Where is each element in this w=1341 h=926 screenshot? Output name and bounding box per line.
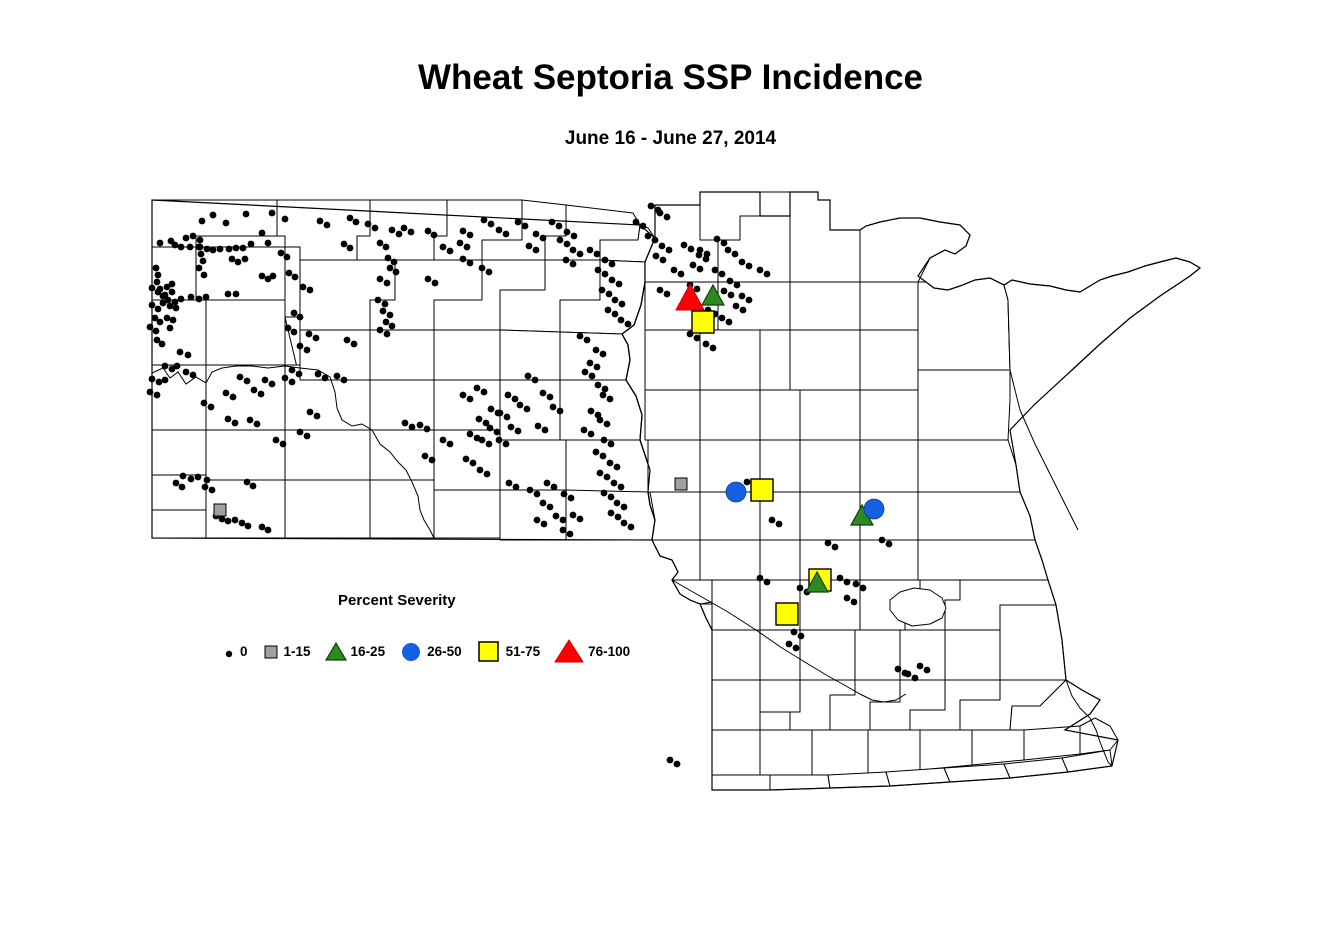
map-marker-zero — [611, 480, 618, 487]
map-marker-zero — [721, 240, 728, 247]
map-marker-zero — [385, 255, 392, 262]
map-marker-zero — [149, 285, 156, 292]
map-marker-zero — [551, 484, 558, 491]
map-marker-zero — [291, 329, 298, 336]
map-marker-zero — [262, 377, 269, 384]
map-marker-zero — [197, 237, 204, 244]
map-marker-zero — [648, 203, 655, 210]
map-marker-zero — [740, 307, 747, 314]
map-marker-zero — [508, 424, 515, 431]
map-marker-zero — [432, 280, 439, 287]
map-marker-zero — [217, 246, 224, 253]
map-marker-zero — [540, 390, 547, 397]
map-marker-51-75 — [692, 311, 714, 333]
map-marker-zero — [167, 325, 174, 332]
map-marker-zero — [149, 376, 156, 383]
map-marker-zero — [229, 256, 236, 263]
map-marker-26-50 — [864, 499, 884, 519]
map-marker-zero — [467, 260, 474, 267]
map-marker-zero — [167, 303, 174, 310]
map-marker-zero — [664, 291, 671, 298]
map-marker-zero — [594, 251, 601, 258]
map-marker-zero — [653, 253, 660, 260]
map-marker-zero — [533, 231, 540, 238]
map-marker-zero — [210, 212, 217, 219]
map-marker-zero — [608, 494, 615, 501]
map-marker-1-15 — [214, 504, 226, 516]
map-marker-zero — [209, 487, 216, 494]
map-marker-zero — [408, 229, 415, 236]
map-marker-zero — [851, 599, 858, 606]
map-marker-zero — [587, 247, 594, 254]
map-marker-zero — [652, 237, 659, 244]
map-marker-zero — [488, 221, 495, 228]
map-marker-zero — [557, 408, 564, 415]
map-marker-zero — [588, 431, 595, 438]
map-marker-zero — [595, 382, 602, 389]
legend-label: 26-50 — [427, 644, 462, 659]
map-marker-zero — [247, 417, 254, 424]
map-marker-zero — [697, 247, 704, 254]
map-marker-51-75 — [776, 603, 798, 625]
map-marker-zero — [612, 297, 619, 304]
map-marker-zero — [602, 257, 609, 264]
map-marker-zero — [297, 429, 304, 436]
map-marker-zero — [532, 377, 539, 384]
map-marker-zero — [577, 516, 584, 523]
legend-item-76-100[interactable]: 76-100 — [554, 637, 630, 665]
map-marker-zero — [177, 349, 184, 356]
map-marker-zero — [496, 227, 503, 234]
map-marker-zero — [484, 471, 491, 478]
map-marker-zero — [269, 381, 276, 388]
map-marker-zero — [296, 371, 303, 378]
map-marker-zero — [155, 306, 162, 313]
map-marker-zero — [314, 413, 321, 420]
map-marker-zero — [564, 229, 571, 236]
map-marker-zero — [660, 257, 667, 264]
map-marker-zero — [734, 282, 741, 289]
map-marker-zero — [273, 437, 280, 444]
map-marker-zero — [225, 291, 232, 298]
map-marker-zero — [786, 641, 793, 648]
map-marker-zero — [593, 347, 600, 354]
map-marker-zero — [307, 409, 314, 416]
map-marker-zero — [671, 267, 678, 274]
map-marker-zero — [391, 259, 398, 266]
map-marker-zero — [659, 243, 666, 250]
map-marker-zero — [606, 291, 613, 298]
map-marker-zero — [440, 437, 447, 444]
map-marker-zero — [291, 310, 298, 317]
map-marker-zero — [640, 223, 647, 230]
map-marker-zero — [232, 517, 239, 524]
map-marker-zero — [553, 513, 560, 520]
map-marker-zero — [460, 228, 467, 235]
map-marker-51-75 — [751, 479, 773, 501]
map-marker-zero — [550, 404, 557, 411]
map-marker-zero — [746, 263, 753, 270]
map-marker-zero — [341, 377, 348, 384]
map-marker-zero — [190, 372, 197, 379]
map-marker-zero — [384, 331, 391, 338]
map-marker-zero — [540, 235, 547, 242]
map-marker-zero — [547, 394, 554, 401]
map-marker-zero — [582, 369, 589, 376]
map-marker-zero — [619, 301, 626, 308]
map-marker-zero — [534, 517, 541, 524]
map-marker-zero — [633, 219, 640, 226]
map-marker-zero — [601, 490, 608, 497]
map-marker-zero — [769, 517, 776, 524]
map-marker-zero — [409, 424, 416, 431]
map-marker-zero — [170, 317, 177, 324]
map-marker-zero — [159, 341, 166, 348]
map-marker-zero — [223, 220, 230, 227]
map-marker-zero — [243, 211, 250, 218]
map-marker-zero — [556, 223, 563, 230]
map-marker-zero — [402, 420, 409, 427]
map-marker-zero — [383, 319, 390, 326]
legend-item-0[interactable]: 0 — [222, 641, 248, 661]
legend-label: 76-100 — [588, 644, 630, 659]
map-marker-zero — [609, 277, 616, 284]
map-marker-zero — [204, 246, 211, 253]
map-marker-zero — [564, 241, 571, 248]
map-marker-zero — [179, 484, 186, 491]
legend-label: 16-25 — [351, 644, 386, 659]
map-marker-zero — [506, 480, 513, 487]
legend-symbol-dot-icon — [222, 641, 236, 661]
map-marker-zero — [162, 363, 169, 370]
map-marker-zero — [157, 240, 164, 247]
map-marker-zero — [196, 296, 203, 303]
map-marker-zero — [703, 341, 710, 348]
map-marker-zero — [616, 281, 623, 288]
map-marker-zero — [259, 524, 266, 531]
map-marker-zero — [600, 453, 607, 460]
map-marker-zero — [173, 480, 180, 487]
map-marker-zero — [597, 417, 604, 424]
map-marker-zero — [618, 484, 625, 491]
legend-item-51-75[interactable]: 51-75 — [476, 638, 541, 664]
map-marker-zero — [254, 421, 261, 428]
map-marker-zero — [542, 427, 549, 434]
map-marker-zero — [503, 441, 510, 448]
map-marker-zero — [201, 400, 208, 407]
map-marker-zero — [172, 242, 179, 249]
map-marker-zero — [240, 245, 247, 252]
map-marker-zero — [496, 437, 503, 444]
map-marker-1-15 — [675, 478, 687, 490]
map-marker-zero — [259, 273, 266, 280]
map-marker-zero — [581, 427, 588, 434]
map-marker-zero — [251, 387, 258, 394]
map-marker-zero — [486, 269, 493, 276]
map-marker-zero — [173, 305, 180, 312]
map-marker-zero — [282, 375, 289, 382]
map-marker-zero — [334, 373, 341, 380]
map-marker-zero — [425, 228, 432, 235]
map-marker-zero — [844, 595, 851, 602]
map-marker-zero — [322, 375, 329, 382]
map-marker-zero — [733, 303, 740, 310]
map-marker-zero — [289, 367, 296, 374]
map-marker-zero — [517, 402, 524, 409]
map-marker-zero — [201, 272, 208, 279]
map-marker-zero — [208, 404, 215, 411]
map-marker-zero — [196, 265, 203, 272]
map-marker-zero — [853, 581, 860, 588]
map-marker-zero — [195, 474, 202, 481]
map-marker-zero — [667, 757, 674, 764]
map-marker-zero — [304, 347, 311, 354]
map-marker-zero — [284, 254, 291, 261]
map-marker-zero — [202, 484, 209, 491]
map-marker-zero — [615, 514, 622, 521]
map-marker-zero — [162, 377, 169, 384]
map-marker-zero — [597, 470, 604, 477]
map-marker-zero — [155, 289, 162, 296]
map-marker-zero — [280, 441, 287, 448]
map-marker-zero — [269, 210, 276, 217]
map-marker-zero — [147, 324, 154, 331]
map-marker-zero — [431, 232, 438, 239]
map-marker-zero — [618, 317, 625, 324]
legend-item-26-50[interactable]: 26-50 — [399, 639, 462, 663]
map-marker-zero — [714, 236, 721, 243]
map-marker-zero — [377, 327, 384, 334]
legend-title: Percent Severity — [338, 592, 456, 609]
map-marker-zero — [594, 364, 601, 371]
map-marker-zero — [605, 307, 612, 314]
map-marker-zero — [380, 308, 387, 315]
map-marker-zero — [425, 276, 432, 283]
map-marker-zero — [645, 233, 652, 240]
map-marker-zero — [315, 371, 322, 378]
map-marker-zero — [825, 540, 832, 547]
legend-item-1-15[interactable]: 1-15 — [262, 641, 311, 661]
map-marker-zero — [744, 479, 751, 486]
map-marker-zero — [524, 406, 531, 413]
map-marker-zero — [250, 483, 257, 490]
map-marker-zero — [157, 319, 164, 326]
map-marker-zero — [375, 297, 382, 304]
map-marker-zero — [481, 217, 488, 224]
map-marker-zero — [612, 311, 619, 318]
map-marker-zero — [602, 386, 609, 393]
map-svg — [0, 0, 1341, 926]
map-marker-zero — [242, 256, 249, 263]
map-marker-zero — [190, 233, 197, 240]
map-marker-zero — [757, 267, 764, 274]
map-marker-zero — [560, 517, 567, 524]
legend-item-16-25[interactable]: 16-25 — [325, 640, 386, 662]
map-marker-zero — [515, 219, 522, 226]
map-marker-zero — [512, 396, 519, 403]
map-marker-zero — [154, 392, 161, 399]
map-marker-zero — [278, 250, 285, 257]
map-marker-zero — [607, 396, 614, 403]
map-marker-zero — [377, 276, 384, 283]
map-marker-zero — [417, 422, 424, 429]
map-marker-zero — [160, 300, 167, 307]
map-marker-zero — [607, 460, 614, 467]
map-marker-zero — [477, 467, 484, 474]
map-marker-zero — [764, 579, 771, 586]
map-marker-zero — [226, 246, 233, 253]
map-marker-zero — [235, 259, 242, 266]
map-marker-zero — [174, 363, 181, 370]
map-marker-zero — [313, 335, 320, 342]
map-marker-zero — [467, 232, 474, 239]
map-marker-zero — [237, 374, 244, 381]
map-marker-zero — [479, 265, 486, 272]
legend-symbol-circle-icon — [399, 639, 423, 663]
map-marker-zero — [614, 464, 621, 471]
map-marker-zero — [721, 288, 728, 295]
map-marker-zero — [712, 267, 719, 274]
map-marker-zero — [879, 537, 886, 544]
map-marker-zero — [225, 518, 232, 525]
map-marker-zero — [282, 216, 289, 223]
map-marker-zero — [798, 633, 805, 640]
map-marker-zero — [719, 271, 726, 278]
map-marker-zero — [513, 484, 520, 491]
map-marker-zero — [476, 416, 483, 423]
map-marker-zero — [614, 500, 621, 507]
map-marker-zero — [347, 215, 354, 222]
map-marker-zero — [307, 287, 314, 294]
map-marker-zero — [588, 408, 595, 415]
map-marker-zero — [300, 284, 307, 291]
map-marker-zero — [757, 575, 764, 582]
map-marker-zero — [377, 240, 384, 247]
map-marker-zero — [657, 210, 664, 217]
map-marker-zero — [666, 247, 673, 254]
map-marker-zero — [200, 258, 207, 265]
legend-symbol-triangle-icon — [325, 640, 347, 662]
map-marker-zero — [154, 279, 161, 286]
map-marker-zero — [258, 391, 265, 398]
map-marker-zero — [674, 761, 681, 768]
map-marker-zero — [351, 341, 358, 348]
map-marker-zero — [535, 423, 542, 430]
map-marker-zero — [727, 278, 734, 285]
map-marker-zero — [169, 281, 176, 288]
map-marker-zero — [739, 259, 746, 266]
map-marker-zero — [204, 477, 211, 484]
map-marker-zero — [383, 244, 390, 251]
map-marker-zero — [474, 385, 481, 392]
map-marker-zero — [233, 291, 240, 298]
map-marker-zero — [595, 267, 602, 274]
map-marker-zero — [540, 500, 547, 507]
map-marker-zero — [306, 331, 313, 338]
map-marker-zero — [447, 248, 454, 255]
map-marker-zero — [286, 270, 293, 277]
map-marker-zero — [797, 585, 804, 592]
legend-label: 1-15 — [284, 644, 311, 659]
map-marker-zero — [860, 585, 867, 592]
map-marker-zero — [917, 663, 924, 670]
map-marker-zero — [187, 244, 194, 251]
map-marker-zero — [525, 373, 532, 380]
map-marker-zero — [710, 345, 717, 352]
map-marker-zero — [837, 575, 844, 582]
map-marker-zero — [924, 667, 931, 674]
map-marker-zero — [561, 491, 568, 498]
map-marker-zero — [460, 256, 467, 263]
map-marker-zero — [223, 390, 230, 397]
map-marker-zero — [487, 425, 494, 432]
map-marker-zero — [704, 251, 711, 258]
map-marker-zero — [447, 441, 454, 448]
map-marker-zero — [570, 261, 577, 268]
map-marker-zero — [188, 476, 195, 483]
map-marker-zero — [353, 219, 360, 226]
map-marker-zero — [690, 262, 697, 269]
map-marker-zero — [196, 244, 203, 251]
map-marker-zero — [694, 286, 701, 293]
map-marker-zero — [464, 244, 471, 251]
map-marker-zero — [694, 335, 701, 342]
map-marker-zero — [832, 544, 839, 551]
map-marker-zero — [389, 227, 396, 234]
map-marker-zero — [365, 221, 372, 228]
map-marker-zero — [587, 360, 594, 367]
map-marker-zero — [178, 244, 185, 251]
map-marker-zero — [764, 271, 771, 278]
legend-symbol-square-icon — [262, 641, 280, 661]
map-marker-zero — [719, 315, 726, 322]
map-marker-zero — [593, 449, 600, 456]
map-marker-zero — [912, 675, 919, 682]
map-marker-zero — [563, 257, 570, 264]
map-marker-zero — [568, 495, 575, 502]
map-marker-zero — [726, 319, 733, 326]
map-marker-zero — [147, 389, 154, 396]
map-marker-zero — [372, 225, 379, 232]
map-marker-zero — [664, 214, 671, 221]
map-marker-zero — [422, 453, 429, 460]
map-marker-zero — [156, 379, 163, 386]
map-marker-zero — [628, 524, 635, 531]
map-marker-zero — [467, 396, 474, 403]
map-marker-zero — [429, 457, 436, 464]
map-marker-zero — [382, 301, 389, 308]
map-marker-zero — [155, 272, 162, 279]
minnesota-counties — [622, 192, 1200, 790]
map-marker-zero — [384, 280, 391, 287]
map-marker-zero — [601, 437, 608, 444]
map-marker-zero — [560, 527, 567, 534]
map-marker-zero — [265, 240, 272, 247]
map-marker-zero — [457, 240, 464, 247]
map-marker-zero — [178, 296, 185, 303]
map-marker-zero — [344, 337, 351, 344]
map-marker-zero — [470, 460, 477, 467]
map-marker-zero — [505, 392, 512, 399]
map-marker-zero — [527, 487, 534, 494]
map-marker-zero — [225, 416, 232, 423]
map-marker-zero — [697, 266, 704, 273]
map-marker-zero — [248, 241, 255, 248]
map-marker-zero — [844, 579, 851, 586]
map-marker-zero — [746, 297, 753, 304]
map-marker-zero — [198, 251, 205, 258]
map-marker-zero — [479, 437, 486, 444]
